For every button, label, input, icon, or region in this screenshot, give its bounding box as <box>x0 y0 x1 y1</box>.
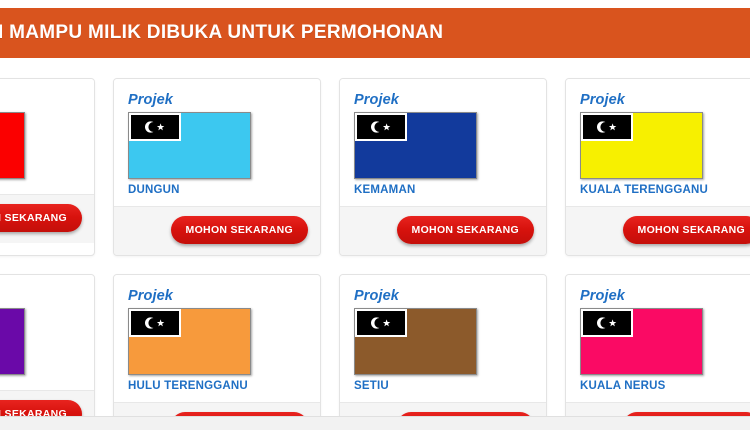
crescent-star-icon <box>368 118 394 136</box>
crescent-star-icon <box>594 118 620 136</box>
project-card[interactable]: ProjekKEMAMANMOHON SEKARANG <box>339 78 547 256</box>
project-card-footer: MOHON SEKARANG <box>340 402 546 416</box>
projek-label: Projek <box>0 92 80 108</box>
crescent-star-icon <box>368 118 394 136</box>
project-card-body: Projek <box>0 275 94 390</box>
state-flag <box>580 112 703 179</box>
project-card[interactable]: ProjekKUALA NERUSMOHON SEKARANG <box>565 274 750 416</box>
project-card[interactable]: ProjekHULU TERENGGANUMOHON SEKARANG <box>113 274 321 416</box>
crescent-star-icon <box>594 118 620 136</box>
flag-canton <box>355 113 407 141</box>
project-card-body: ProjekKUALA TERENGGANU <box>566 79 750 206</box>
project-card-body: ProjekDUNGUN <box>114 79 320 206</box>
page-banner: I MAMPU MILIK DIBUKA UNTUK PERMOHONAN <box>0 8 750 58</box>
state-flag <box>354 308 477 375</box>
projek-label: Projek <box>354 288 532 304</box>
flag-canton <box>129 113 181 141</box>
crescent-star-icon <box>368 314 394 332</box>
crescent-star-icon <box>142 314 168 332</box>
project-card-body: ProjekSETIU <box>340 275 546 402</box>
project-location-name: DUNGUN <box>128 184 306 196</box>
projek-label: Projek <box>0 288 80 304</box>
projek-label: Projek <box>128 92 306 108</box>
project-card-footer: MOHON SEKARANG <box>114 402 320 416</box>
flag-canton <box>581 113 633 141</box>
state-flag <box>128 112 251 179</box>
project-card-footer: MOHON SEKARANG <box>0 390 94 416</box>
projek-label: Projek <box>580 92 750 108</box>
project-card-footer: MOHON SEKARANG <box>114 206 320 255</box>
crescent-star-icon <box>142 118 168 136</box>
flag-canton <box>129 309 181 337</box>
apply-now-button[interactable]: MOHON SEKARANG <box>0 204 82 232</box>
project-card-body: ProjekHULU TERENGGANU <box>114 275 320 402</box>
project-card-grid: ProjekMOHON SEKARANGProjekDUNGUNMOHON SE… <box>0 78 750 416</box>
crescent-star-icon <box>142 314 168 332</box>
banner-title: I MAMPU MILIK DIBUKA UNTUK PERMOHONAN <box>0 22 443 44</box>
project-card-body: Projek <box>0 79 94 194</box>
crescent-star-icon <box>368 314 394 332</box>
project-card-footer: MOHON SEKARANG <box>566 402 750 416</box>
project-location-name: KUALA NERUS <box>580 380 750 392</box>
project-card-body: ProjekKUALA NERUS <box>566 275 750 402</box>
project-card[interactable]: ProjekMOHON SEKARANG <box>0 274 95 416</box>
state-flag <box>128 308 251 375</box>
projek-label: Projek <box>580 288 750 304</box>
apply-now-button[interactable]: MOHON SEKARANG <box>171 216 308 244</box>
apply-now-button[interactable]: MOHON SEKARANG <box>397 216 534 244</box>
apply-now-button[interactable]: MOHON SEKARANG <box>0 400 82 416</box>
crescent-star-icon <box>594 314 620 332</box>
project-location-name: HULU TERENGGANU <box>128 380 306 392</box>
projek-label: Projek <box>354 92 532 108</box>
project-card-footer: MOHON SEKARANG <box>340 206 546 255</box>
project-location-name: SETIU <box>354 380 532 392</box>
page-top-strip <box>0 0 750 8</box>
project-card-grid-viewport: ProjekMOHON SEKARANGProjekDUNGUNMOHON SE… <box>0 58 750 416</box>
state-flag <box>0 112 25 179</box>
crescent-star-icon <box>142 118 168 136</box>
apply-now-button[interactable]: MOHON SEKARANG <box>623 216 750 244</box>
project-card-footer: MOHON SEKARANG <box>0 194 94 243</box>
project-card[interactable]: ProjekMOHON SEKARANG <box>0 78 95 256</box>
project-location-name: KEMAMAN <box>354 184 532 196</box>
crescent-star-icon <box>594 314 620 332</box>
project-card[interactable]: ProjekSETIUMOHON SEKARANG <box>339 274 547 416</box>
project-card[interactable]: ProjekKUALA TERENGGANUMOHON SEKARANG <box>565 78 750 256</box>
page-bottom-area <box>0 416 750 430</box>
state-flag <box>354 112 477 179</box>
project-card-footer: MOHON SEKARANG <box>566 206 750 255</box>
project-card[interactable]: ProjekDUNGUNMOHON SEKARANG <box>113 78 321 256</box>
project-card-body: ProjekKEMAMAN <box>340 79 546 206</box>
state-flag <box>0 308 25 375</box>
flag-canton <box>355 309 407 337</box>
project-location-name: KUALA TERENGGANU <box>580 184 750 196</box>
flag-canton <box>581 309 633 337</box>
state-flag <box>580 308 703 375</box>
projek-label: Projek <box>128 288 306 304</box>
